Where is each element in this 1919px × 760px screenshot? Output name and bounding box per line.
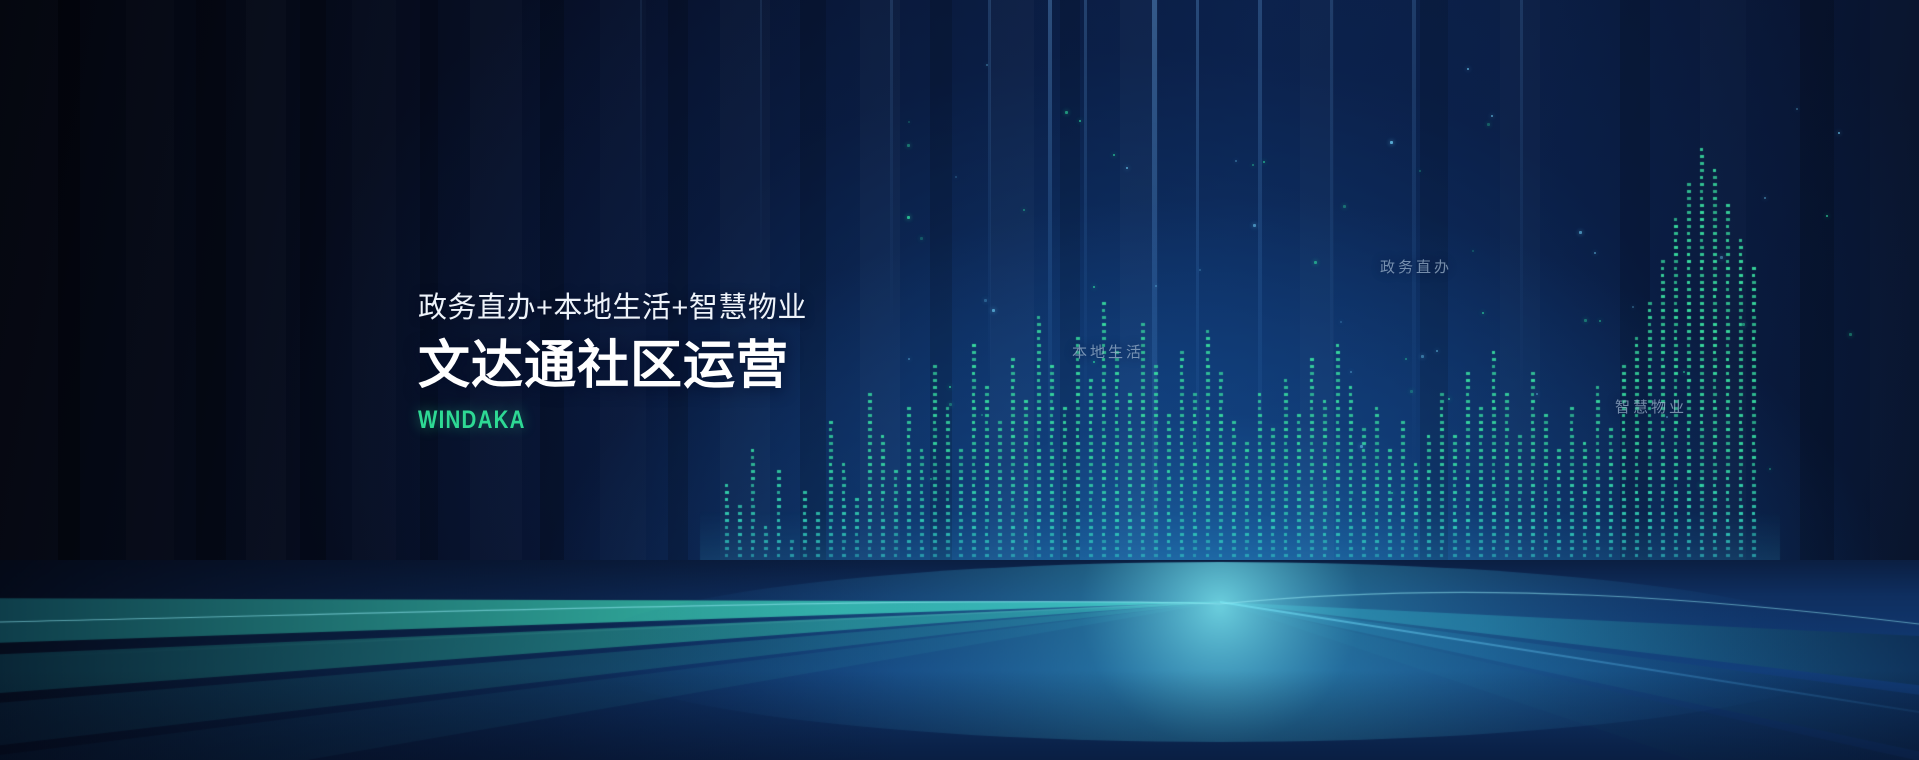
promo-banner: 政务直办 本地生活 智慧物业 政务直办+本地生活+智慧物业 文达通社区运营 WI… (0, 0, 1919, 760)
perspective-floor (0, 560, 1919, 760)
banner-headline: 文达通社区运营 (418, 340, 807, 392)
banner-subtitle: 政务直办+本地生活+智慧物业 (418, 294, 807, 323)
headline-block: 政务直办+本地生活+智慧物业 文达通社区运营 WINDAKA (418, 294, 807, 433)
skyline-label-government: 政务直办 (1380, 256, 1452, 277)
skyline-label-local-life: 本地生活 (1072, 341, 1144, 362)
windaka-wordmark: WINDAKA (418, 408, 737, 433)
skyline-label-smart-property: 智慧物业 (1615, 396, 1687, 417)
